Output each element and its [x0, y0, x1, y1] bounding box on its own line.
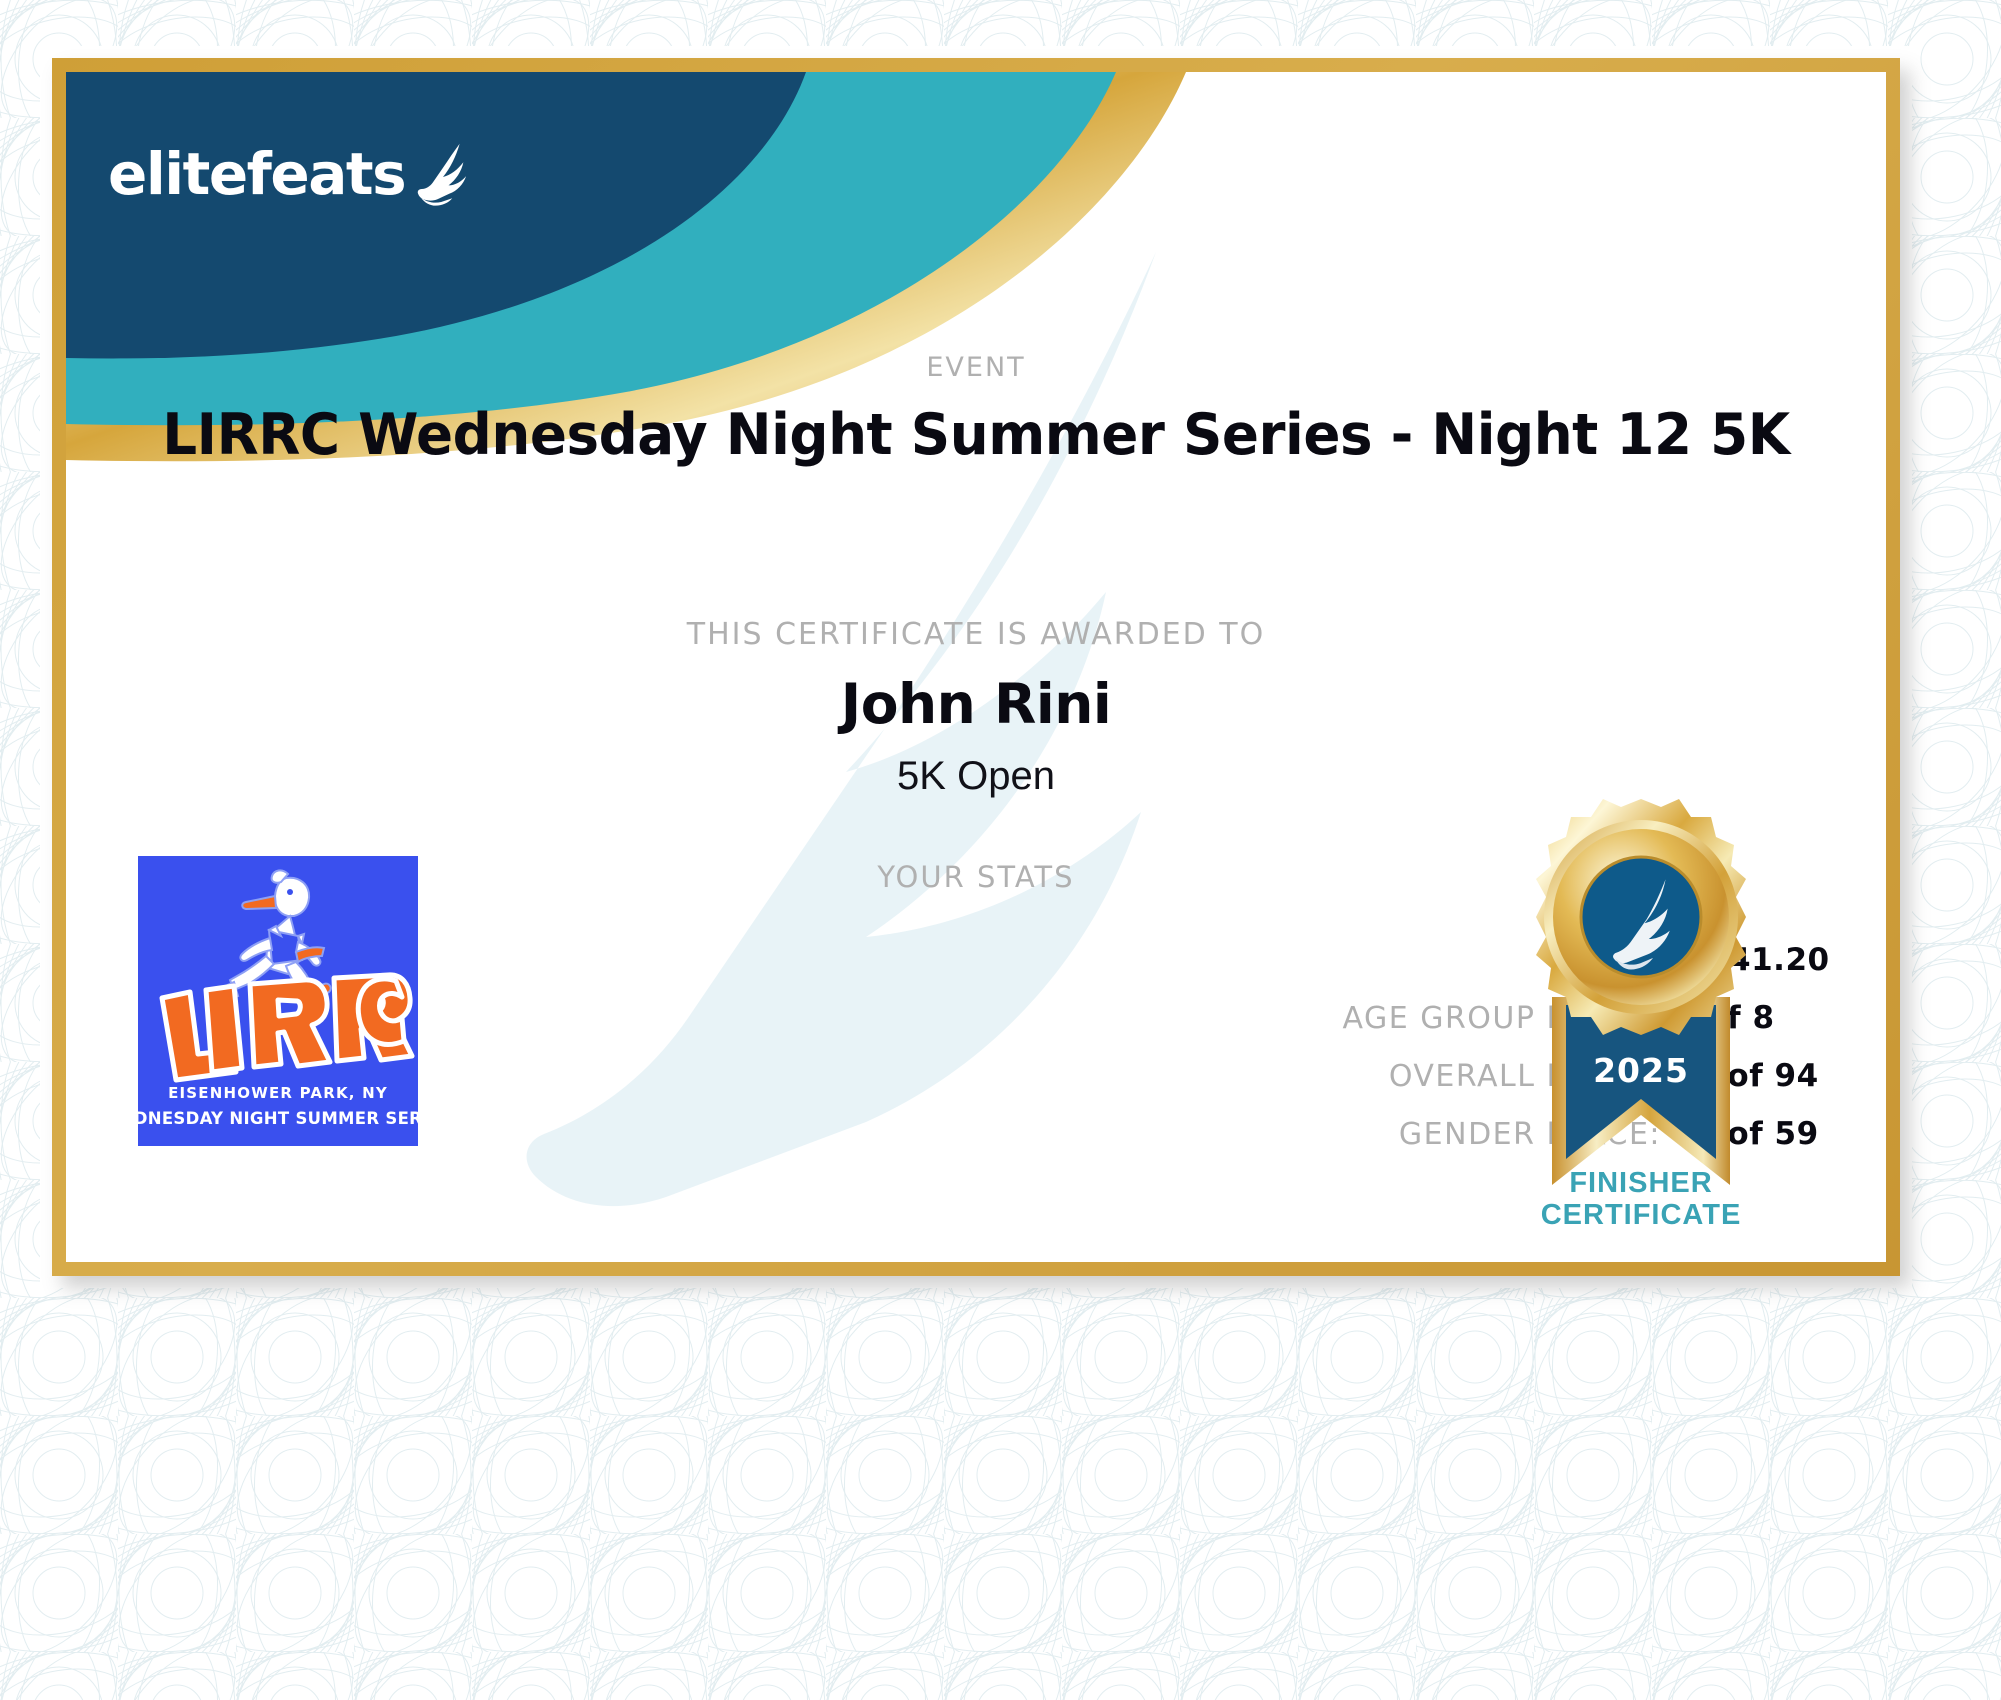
- certificate-frame: elitefeats EVENT LIRRC Wednesday Night S…: [52, 58, 1900, 1276]
- medal-badge: [1536, 799, 1746, 1035]
- recipient-name: John Rini: [66, 672, 1886, 736]
- awarded-to-label: THIS CERTIFICATE IS AWARDED TO: [66, 617, 1886, 652]
- winged-foot-icon: [405, 140, 481, 214]
- medal-year-text: 2025: [1593, 1051, 1689, 1090]
- division-name: 5K Open: [66, 754, 1886, 799]
- event-label: EVENT: [66, 352, 1886, 383]
- lirrc-club-logo: EISENHOWER PARK, NY WEDNESDAY NIGHT SUMM…: [138, 856, 418, 1146]
- finisher-medal: 2025: [1506, 797, 1776, 1262]
- elitefeats-logo: elitefeats: [108, 134, 481, 214]
- club-series-text: WEDNESDAY NIGHT SUMMER SERIES: [138, 1109, 418, 1128]
- certificate-body: elitefeats EVENT LIRRC Wednesday Night S…: [66, 72, 1886, 1262]
- club-location-text: EISENHOWER PARK, NY: [168, 1084, 388, 1102]
- event-title: LIRRC Wednesday Night Summer Series - Ni…: [160, 402, 1792, 468]
- brand-wordmark: elitefeats: [108, 145, 405, 203]
